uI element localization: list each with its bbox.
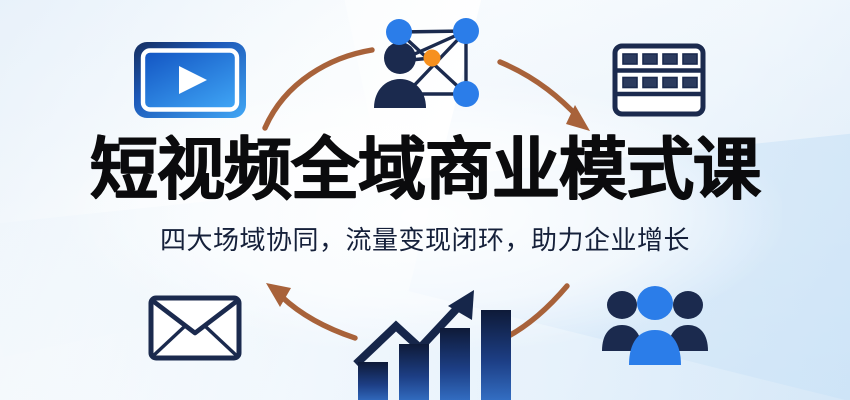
server-rack-icon[interactable]: [612, 43, 706, 117]
page-title: 短视频全域商业模式课: [0, 136, 850, 204]
video-play-icon[interactable]: [133, 41, 247, 119]
page-subtitle: 四大场域协同，流量变现闭环，助力企业增长: [0, 220, 850, 257]
envelope-icon[interactable]: [148, 295, 242, 361]
growth-chart-icon[interactable]: [348, 276, 508, 400]
course-banner: 短视频全域商业模式课 四大场域协同，流量变现闭环，助力企业增长: [0, 0, 850, 400]
people-group-icon[interactable]: [600, 285, 710, 369]
headline-block: 短视频全域商业模式课 四大场域协同，流量变现闭环，助力企业增长: [0, 136, 850, 257]
network-user-icon[interactable]: [368, 6, 488, 116]
